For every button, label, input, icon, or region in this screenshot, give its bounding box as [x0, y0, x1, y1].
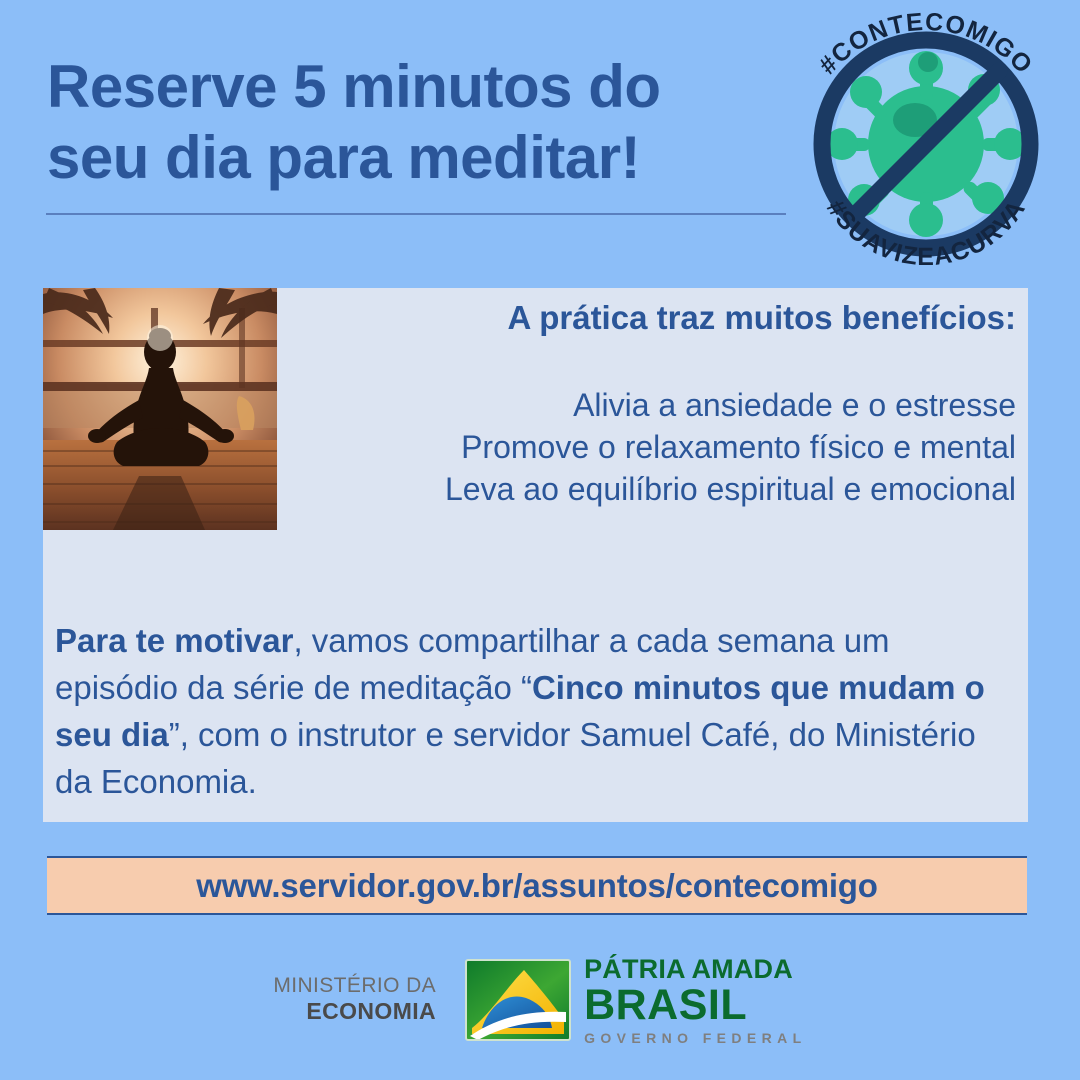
meditation-photo — [43, 288, 277, 530]
gov-governo-federal: GOVERNO FEDERAL — [584, 1031, 807, 1045]
campaign-badge-icon: #CONTECOMIGO #SUAVIZEACURVA — [778, 4, 1074, 276]
headline-line-2: seu dia para meditar! — [47, 123, 767, 194]
ministry-label-bottom: ECONOMIA — [273, 998, 436, 1024]
benefit-item-1: Alivia a ansiedade e o estresse — [300, 384, 1016, 426]
benefits-block: A prática traz muitos benefícios: Alivia… — [300, 298, 1016, 510]
body-text-part-2: ”, com o instrutor e servidor Samuel Caf… — [55, 716, 976, 800]
governo-federal-logo: PÁTRIA AMADA BRASIL GOVERNO FEDERAL — [464, 956, 807, 1045]
page-title: Reserve 5 minutos do seu dia para medita… — [47, 52, 767, 194]
url-banner[interactable]: www.servidor.gov.br/assuntos/contecomigo — [47, 856, 1027, 915]
footer-logos: MINISTÉRIO DA ECONOMIA — [0, 945, 1080, 1055]
headline-divider — [46, 213, 786, 215]
brazil-flag-icon — [464, 958, 572, 1042]
body-bold-lead: Para te motivar — [55, 622, 293, 659]
poster-canvas: Reserve 5 minutos do seu dia para medita… — [0, 0, 1080, 1080]
governo-federal-text: PÁTRIA AMADA BRASIL GOVERNO FEDERAL — [584, 956, 807, 1045]
benefit-item-2: Promove o relaxamento físico e mental — [300, 426, 1016, 468]
gov-patria-amada: PÁTRIA AMADA — [584, 956, 807, 983]
ministry-economia-logo: MINISTÉRIO DA ECONOMIA — [273, 974, 436, 1027]
headline-line-1: Reserve 5 minutos do — [47, 52, 767, 123]
benefit-item-3: Leva ao equilíbrio espiritual e emociona… — [300, 468, 1016, 510]
benefits-title: A prática traz muitos benefícios: — [300, 298, 1016, 338]
website-url[interactable]: www.servidor.gov.br/assuntos/contecomigo — [196, 867, 877, 905]
ministry-label-top: MINISTÉRIO DA — [273, 974, 436, 998]
gov-brasil: BRASIL — [584, 984, 807, 1027]
body-paragraph: Para te motivar, vamos compartilhar a ca… — [55, 618, 1005, 805]
